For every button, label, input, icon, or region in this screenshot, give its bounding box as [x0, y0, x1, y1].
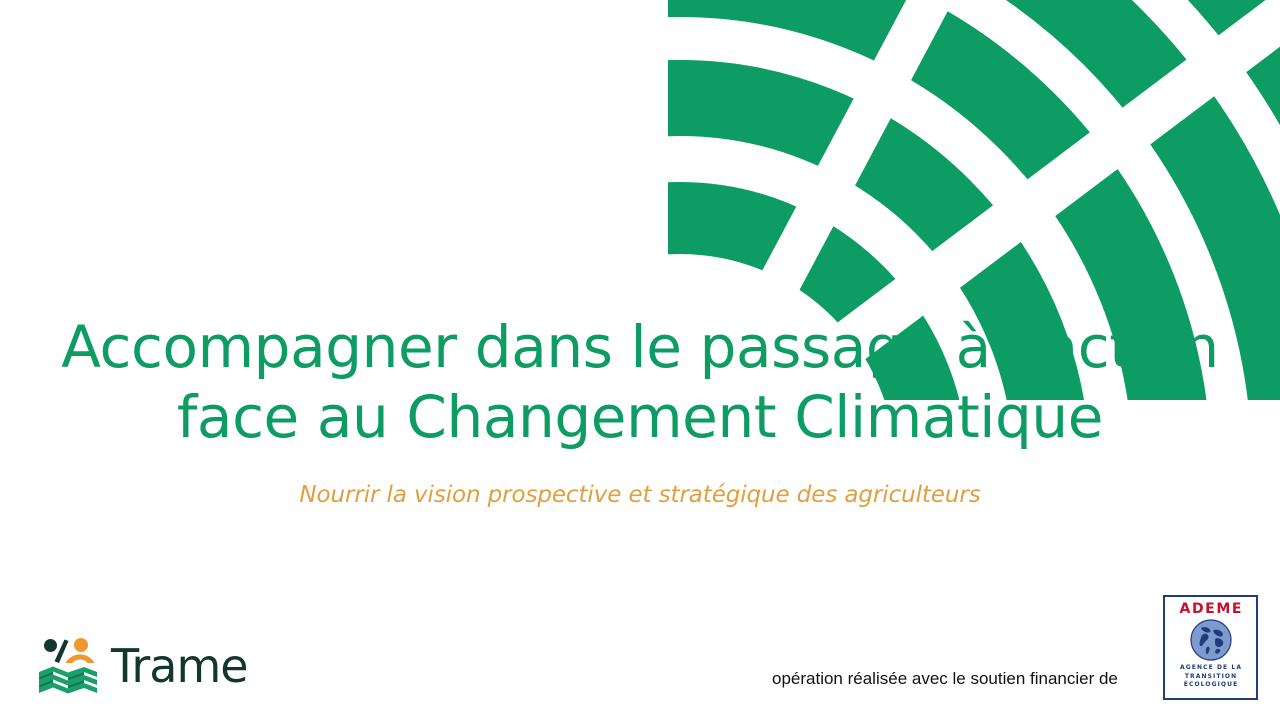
ademe-logo: ADEME AGENCE DE LA TRANSITION ÉCOLOGIQUE	[1163, 595, 1258, 700]
ademe-title: ADEME	[1178, 602, 1243, 616]
trame-mark-icon	[37, 636, 99, 696]
slide-subtitle: Nourrir la vision prospective et stratég…	[0, 452, 1280, 508]
funding-note: opération réalisée avec le soutien finan…	[772, 669, 1118, 689]
title-block: Accompagner dans le passage à l’action f…	[0, 312, 1280, 508]
trame-logo: Trame	[37, 636, 248, 696]
globe-icon	[1190, 616, 1232, 661]
presentation-slide: Accompagner dans le passage à l’action f…	[0, 0, 1280, 720]
trame-wordmark: Trame	[111, 643, 248, 689]
ademe-tagline: AGENCE DE LA TRANSITION ÉCOLOGIQUE	[1179, 664, 1242, 690]
slide-title: Accompagner dans le passage à l’action f…	[0, 312, 1280, 452]
